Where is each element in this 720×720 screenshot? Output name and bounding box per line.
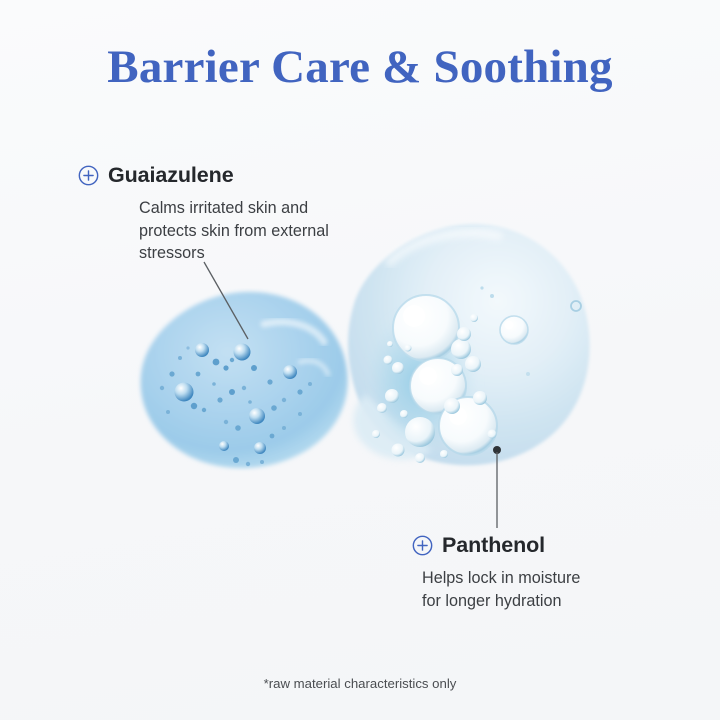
panthenol-leader-line — [480, 440, 520, 540]
panthenol-gel-swatch — [332, 218, 602, 483]
callout-guaiazulene-title: Guaiazulene — [108, 163, 234, 188]
plus-circle-icon — [78, 165, 99, 186]
page-title: Barrier Care & Soothing — [0, 40, 720, 94]
footnote: *raw material characteristics only — [0, 676, 720, 691]
callout-guaiazulene-description: Calms irritated skin and protects skin f… — [139, 197, 329, 265]
infographic-canvas: Barrier Care & Soothing Guaiazulene Calm… — [0, 0, 720, 720]
callout-guaiazulene-header: Guaiazulene — [78, 163, 329, 188]
callout-panthenol: Panthenol Helps lock in moisture for lon… — [412, 533, 580, 612]
plus-circle-icon — [412, 535, 433, 556]
callout-panthenol-header: Panthenol — [412, 533, 580, 558]
guaiazulene-leader-line — [195, 255, 265, 355]
callout-panthenol-description: Helps lock in moisture for longer hydrat… — [422, 567, 580, 612]
callout-panthenol-title: Panthenol — [442, 533, 545, 558]
callout-guaiazulene: Guaiazulene Calms irritated skin and pro… — [78, 163, 329, 265]
